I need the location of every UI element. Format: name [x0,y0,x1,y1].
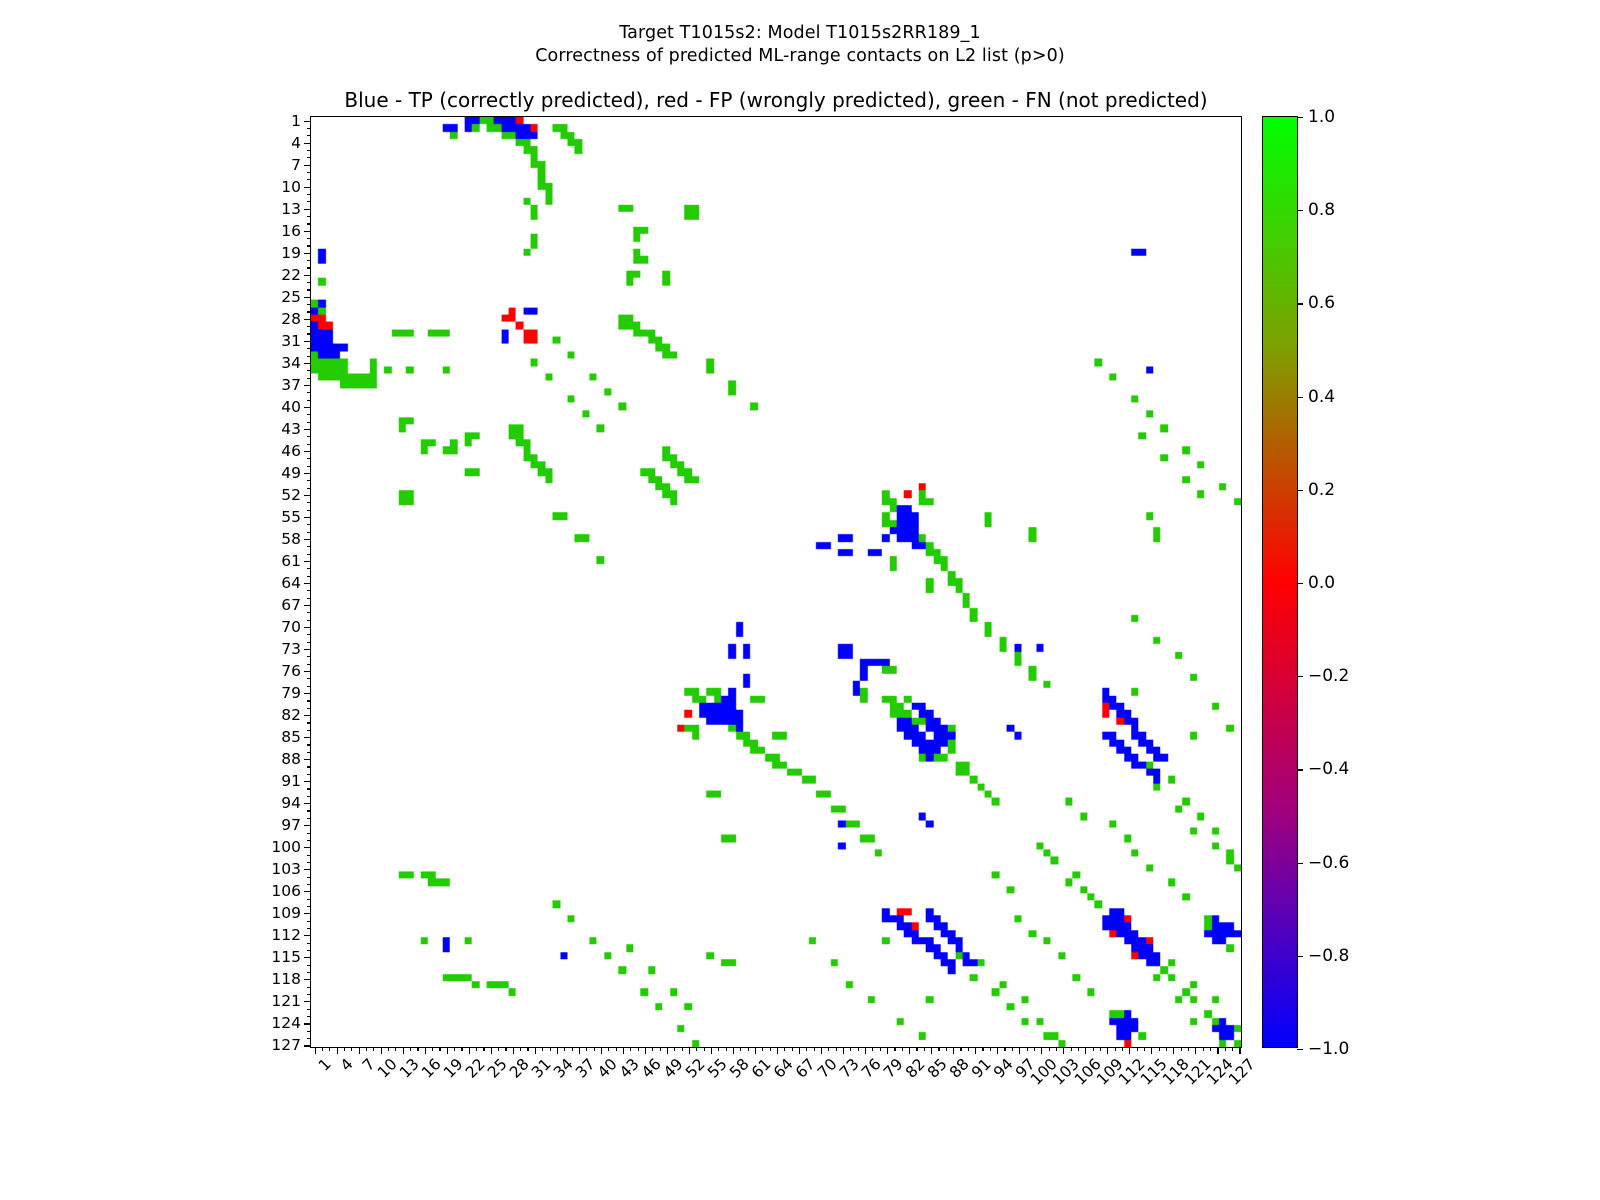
x-axis-tick [872,1047,873,1051]
legend-description-title: Blue - TP (correctly predicted), red - F… [310,88,1242,112]
x-axis-tick [461,1047,462,1051]
x-axis-tick [726,1047,727,1051]
y-axis-tick [307,1038,311,1039]
x-axis-tick [505,1047,506,1051]
y-axis-tick-label: 40 [281,398,301,416]
y-axis-tick [307,906,311,907]
y-axis-tick [304,1001,311,1002]
x-axis-tick [1093,1047,1094,1051]
y-axis-tick [307,766,311,767]
x-axis-tick [557,1047,558,1054]
x-axis-tick [447,1047,448,1054]
x-axis-tick [315,1047,316,1054]
y-axis-tick [307,378,311,379]
colorbar-tick-label: 0.8 [1308,200,1335,220]
y-axis-tick [307,245,311,246]
x-axis-tick [527,1047,528,1051]
x-axis-tick [755,1047,756,1054]
y-axis-tick [307,965,311,966]
x-axis-tick [1056,1047,1057,1051]
x-axis-tick [704,1047,705,1051]
colorbar-tick-label: 0.6 [1308,293,1335,313]
figure-title-block: Target T1015s2: Model T1015s2RR189_1 Cor… [0,22,1600,68]
x-axis-tick [520,1047,521,1051]
x-axis-tick [608,1047,609,1051]
x-axis-tick [1159,1047,1160,1051]
x-axis-tick [351,1047,352,1051]
y-axis-tick [307,179,311,180]
x-axis-tick [630,1047,631,1051]
colorbar-tick [1297,583,1303,584]
y-axis-tick [307,656,311,657]
y-axis-tick [304,1023,311,1024]
y-axis-tick-label: 64 [281,574,301,592]
x-axis-tick [572,1047,573,1051]
x-axis-tick [1225,1047,1226,1051]
y-axis-tick [307,796,311,797]
y-axis-tick [307,928,311,929]
x-axis-tick [1115,1047,1116,1051]
y-axis-tick [307,524,311,525]
y-axis-tick [307,466,311,467]
x-axis-tick [821,1047,822,1054]
x-axis-tick [689,1047,690,1054]
y-axis-tick-label: 88 [281,750,301,768]
x-axis-tick [1173,1047,1174,1054]
x-axis-tick [564,1047,565,1051]
y-axis-tick [307,642,311,643]
x-axis-tick [1019,1047,1020,1054]
x-axis-tick [373,1047,374,1051]
x-axis-tick [733,1047,734,1054]
x-axis-tick [322,1047,323,1051]
x-axis-tick [476,1047,477,1051]
y-axis-tick [307,744,311,745]
y-axis-tick-label: 118 [271,970,301,988]
x-axis-tick [439,1047,440,1051]
y-axis-tick [304,319,311,320]
y-axis-tick [307,488,311,489]
x-axis-tick [1151,1047,1152,1054]
x-axis-tick [674,1047,675,1051]
y-axis-tick [307,311,311,312]
y-axis-tick [307,128,311,129]
y-axis-tick [307,568,311,569]
y-axis-tick-label: 94 [281,794,301,812]
y-axis-tick [307,752,311,753]
x-axis-tick [586,1047,587,1051]
x-axis-tick [982,1047,983,1051]
x-axis-tick [1144,1047,1145,1051]
x-axis-tick [784,1047,785,1051]
x-axis-tick [652,1047,653,1051]
y-axis-tick [304,429,311,430]
x-axis-tick [931,1047,932,1054]
y-axis-tick-label: 28 [281,310,301,328]
y-axis-tick [304,209,311,210]
colorbar-tick-label: −0.8 [1308,946,1349,966]
y-axis-tick [307,664,311,665]
x-axis-tick [1063,1047,1064,1054]
y-axis-tick [307,370,311,371]
colorbar-tick [1297,676,1303,677]
x-axis-tick-label: 127 [1225,1055,1259,1089]
x-axis-tick [997,1047,998,1054]
y-axis-tick [304,451,311,452]
y-axis-tick [304,341,311,342]
y-axis-tick [307,502,311,503]
y-axis-tick [307,172,311,173]
x-axis-tick [425,1047,426,1054]
y-axis-tick [307,884,311,885]
colorbar-tick [1297,303,1303,304]
y-axis-tick-label: 73 [281,640,301,658]
y-axis-tick [304,693,311,694]
x-axis-tick [858,1047,859,1051]
y-axis-tick [307,1031,311,1032]
y-axis-tick [307,818,311,819]
x-axis-tick [865,1047,866,1054]
y-axis-tick-label: 100 [271,838,301,856]
y-axis-tick [307,877,311,878]
x-axis-tick [682,1047,683,1051]
y-axis-tick [304,583,311,584]
y-axis-tick-label: 61 [281,552,301,570]
x-axis-tick [806,1047,807,1051]
y-axis-tick [307,833,311,834]
y-axis-tick-label: 76 [281,662,301,680]
y-axis-tick [304,297,311,298]
y-axis-tick-label: 43 [281,420,301,438]
y-axis-tick-label: 34 [281,354,301,372]
y-axis-tick-label: 85 [281,728,301,746]
y-axis-tick-label: 115 [271,948,301,966]
colorbar-tick [1297,863,1303,864]
x-axis-tick [1122,1047,1123,1051]
y-axis-tick-label: 109 [271,904,301,922]
y-axis-tick [307,788,311,789]
colorbar-tick [1297,397,1303,398]
x-axis-tick [403,1047,404,1054]
y-axis-tick [304,143,311,144]
y-axis-tick [304,913,311,914]
colorbar-tick [1297,117,1303,118]
y-axis-tick [304,627,311,628]
figure-title-line2: Correctness of predicted ML-range contac… [0,45,1600,68]
x-axis-tick [381,1047,382,1054]
x-axis-tick [1195,1047,1196,1054]
y-axis-tick [304,935,311,936]
y-axis-tick [307,157,311,158]
y-axis-tick [304,561,311,562]
y-axis-tick [307,444,311,445]
y-axis-tick-label: 7 [291,156,301,174]
colorbar-tick-label: 1.0 [1308,107,1335,127]
y-axis-tick [304,715,311,716]
y-axis-tick [307,921,311,922]
y-axis-tick [304,649,311,650]
y-axis-tick [307,326,311,327]
x-axis-tick [968,1047,969,1051]
x-axis-tick-label: 4 [337,1055,357,1075]
x-axis-tick [1188,1047,1189,1051]
x-axis-tick-label: 7 [359,1055,379,1075]
y-axis-tick [307,260,311,261]
x-axis-tick [550,1047,551,1051]
x-axis-tick [344,1047,345,1051]
y-axis-tick [307,590,311,591]
x-axis-tick [799,1047,800,1054]
colorbar-axes[interactable]: 1.00.80.60.40.20.0−0.2−0.4−0.6−0.8−1.0 [1262,116,1298,1048]
y-axis-tick [307,282,311,283]
x-axis-tick [616,1047,617,1051]
y-axis-tick [304,869,311,870]
y-axis-tick [304,231,311,232]
y-axis-tick [307,422,311,423]
y-axis-tick [304,803,311,804]
x-axis-tick [491,1047,492,1054]
y-axis-tick [307,810,311,811]
y-axis-tick [304,825,311,826]
x-axis-tick [1107,1047,1108,1054]
y-axis-tick [307,1016,311,1017]
x-axis-tick [542,1047,543,1051]
y-axis-tick [307,400,311,401]
x-axis-tick [667,1047,668,1054]
y-axis-tick-label: 79 [281,684,301,702]
y-axis-tick-label: 16 [281,222,301,240]
y-axis-tick [307,774,311,775]
y-axis-tick-label: 4 [291,134,301,152]
x-axis-tick [902,1047,903,1051]
x-axis-tick [1034,1047,1035,1051]
y-axis-tick-label: 19 [281,244,301,262]
x-axis-tick [748,1047,749,1051]
y-axis-tick [307,289,311,290]
x-axis-tick [770,1047,771,1051]
y-axis-tick [307,708,311,709]
x-axis-tick [828,1047,829,1051]
x-axis-tick [366,1047,367,1051]
y-axis-tick [307,686,311,687]
y-axis-tick [304,979,311,980]
y-axis-tick-label: 46 [281,442,301,460]
x-axis-tick [638,1047,639,1051]
y-axis-tick [304,253,311,254]
y-axis-tick [307,194,311,195]
y-axis-tick [307,994,311,995]
x-axis-tick [718,1047,719,1051]
x-axis-tick-label: 1 [315,1055,335,1075]
x-axis-tick [1217,1047,1218,1054]
x-axis-tick [836,1047,837,1051]
y-axis-tick-label: 67 [281,596,301,614]
x-axis-tick [990,1047,991,1051]
y-axis-tick [307,223,311,224]
x-axis-tick [388,1047,389,1051]
y-axis-tick [307,862,311,863]
y-axis-tick [307,201,311,202]
y-axis-tick [304,759,311,760]
y-axis-tick [307,436,311,437]
x-axis-tick [410,1047,411,1051]
x-axis-tick [1166,1047,1167,1051]
colorbar-gradient [1263,117,1297,1047]
y-axis-tick-label: 91 [281,772,301,790]
y-axis-tick [304,737,311,738]
y-axis-tick [307,267,311,268]
y-axis-tick [304,275,311,276]
x-axis-tick [1100,1047,1101,1051]
x-axis-tick [880,1047,881,1051]
colorbar-tick [1297,490,1303,491]
y-axis-tick [307,348,311,349]
y-axis-tick [307,899,311,900]
x-axis-tick [953,1047,954,1054]
y-axis-tick [307,458,311,459]
y-axis-tick-label: 127 [271,1036,301,1054]
figure-title-line1: Target T1015s2: Model T1015s2RR189_1 [0,22,1600,45]
y-axis-tick [307,730,311,731]
x-axis-tick [1004,1047,1005,1051]
x-axis-tick [938,1047,939,1051]
x-axis-tick [1210,1047,1211,1051]
y-axis-tick [307,216,311,217]
x-axis-tick [711,1047,712,1054]
y-axis-tick-label: 22 [281,266,301,284]
x-axis-tick [623,1047,624,1054]
y-axis-tick [307,150,311,151]
y-axis-tick-label: 82 [281,706,301,724]
x-axis-tick [1049,1047,1050,1051]
x-axis-tick [792,1047,793,1051]
x-axis-tick [645,1047,646,1054]
contact-map-axes[interactable]: 1144771010131316161919222225252828313134… [310,116,1242,1048]
y-axis-tick [307,943,311,944]
y-axis-tick-label: 1 [291,112,301,130]
y-axis-tick [307,576,311,577]
y-axis-tick [307,722,311,723]
y-axis-tick [307,480,311,481]
colorbar-tick-label: −0.6 [1308,853,1349,873]
colorbar-tick-label: −0.4 [1308,759,1349,779]
y-axis-tick [304,671,311,672]
y-axis-tick [307,392,311,393]
x-axis-tick [454,1047,455,1051]
y-axis-tick [304,539,311,540]
x-axis-tick [777,1047,778,1054]
x-axis-tick [887,1047,888,1054]
x-axis-tick [924,1047,925,1051]
y-axis-tick [304,781,311,782]
y-axis-tick-label: 97 [281,816,301,834]
y-axis-tick [304,165,311,166]
x-axis-tick [417,1047,418,1051]
colorbar-tick [1297,956,1303,957]
x-axis-tick [975,1047,976,1054]
x-axis-tick [1137,1047,1138,1051]
y-axis-tick [304,385,311,386]
y-axis-tick [304,847,311,848]
y-axis-tick [304,187,311,188]
y-axis-tick [307,532,311,533]
x-axis-tick [946,1047,947,1051]
y-axis-tick [307,135,311,136]
y-axis-tick [307,620,311,621]
x-axis-tick [498,1047,499,1051]
x-axis-tick [483,1047,484,1051]
y-axis-tick-label: 49 [281,464,301,482]
y-axis-tick-label: 31 [281,332,301,350]
y-axis-tick [307,554,311,555]
y-axis-tick [307,987,311,988]
x-axis-tick [916,1047,917,1051]
y-axis-tick [307,950,311,951]
y-axis-tick [307,238,311,239]
x-axis-tick [1129,1047,1130,1054]
y-axis-tick [304,495,311,496]
x-axis-tick [762,1047,763,1051]
y-axis-tick [304,121,311,122]
y-axis-tick [307,840,311,841]
y-axis-tick [307,612,311,613]
x-axis-tick [894,1047,895,1051]
colorbar-tick-label: 0.0 [1308,573,1335,593]
y-axis-tick [304,407,311,408]
x-axis-tick [579,1047,580,1054]
y-axis-tick-label: 13 [281,200,301,218]
y-axis-tick-label: 121 [271,992,301,1010]
y-axis-tick [304,473,311,474]
x-axis-tick [594,1047,595,1051]
x-axis-tick [359,1047,360,1054]
x-axis-tick [513,1047,514,1054]
colorbar-tick-label: −1.0 [1308,1039,1349,1059]
x-axis-tick [909,1047,910,1054]
y-axis-tick [307,634,311,635]
y-axis-tick-label: 103 [271,860,301,878]
x-axis-tick [850,1047,851,1051]
x-axis-tick [1078,1047,1079,1051]
y-axis-tick [307,414,311,415]
x-axis-tick [1232,1047,1233,1051]
y-axis-tick-label: 52 [281,486,301,504]
y-axis-tick-label: 124 [271,1014,301,1032]
x-axis-tick [1085,1047,1086,1054]
x-axis-tick [740,1047,741,1051]
y-axis-tick [307,1009,311,1010]
contact-map-heatmap[interactable] [311,117,1241,1047]
x-axis-tick [535,1047,536,1054]
y-axis-tick [304,517,311,518]
y-axis-tick [307,356,311,357]
x-axis-tick [337,1047,338,1054]
x-axis-tick [395,1047,396,1051]
y-axis-tick-label: 10 [281,178,301,196]
colorbar-tick-label: 0.4 [1308,387,1335,407]
y-axis-tick [304,957,311,958]
y-axis-tick [307,510,311,511]
x-axis-tick [1027,1047,1028,1051]
colorbar-tick [1297,769,1303,770]
y-axis-tick [304,605,311,606]
y-axis-tick-label: 37 [281,376,301,394]
y-axis-tick [307,700,311,701]
x-axis-tick [329,1047,330,1051]
x-axis-tick [660,1047,661,1051]
y-axis-tick [307,598,311,599]
colorbar-tick [1297,210,1303,211]
